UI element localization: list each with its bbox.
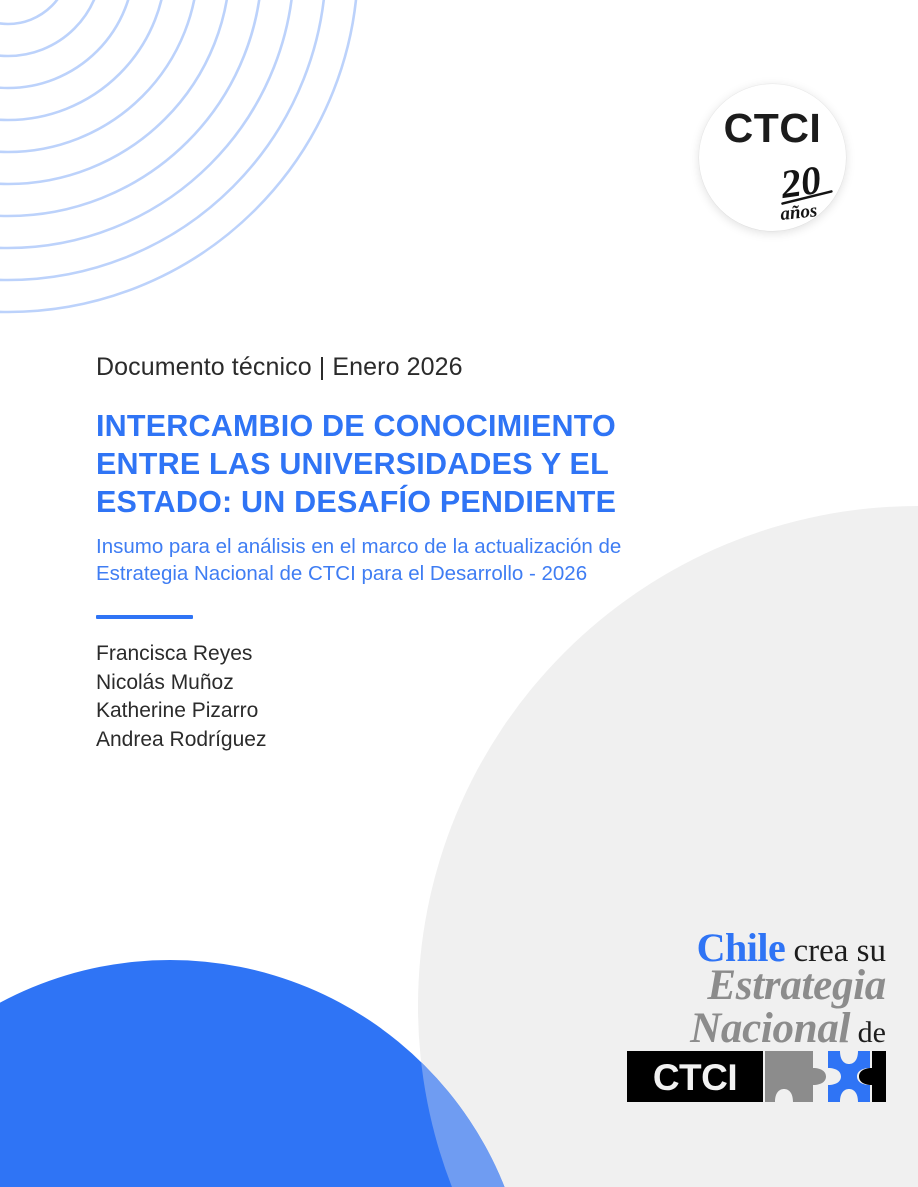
subtitle-line-1: Insumo para el análisis en el marco de l… (96, 533, 836, 560)
badge-ctci-wordmark: CTCI (699, 108, 846, 149)
logo-de-word: de (850, 1016, 886, 1049)
document-kicker: Documento técnico | Enero 2026 (96, 352, 836, 383)
author-divider-rule (96, 615, 193, 619)
page-subtitle: Insumo para el análisis en el marco de l… (96, 533, 836, 587)
cover-text-block: Documento técnico | Enero 2026 INTERCAMB… (96, 352, 836, 754)
logo-ctci-puzzle-bar: CTCI (627, 1051, 886, 1102)
ctci-anniversary-badge: CTCI 20 años (699, 84, 846, 231)
circle-overlap-tint (0, 960, 530, 1187)
logo-nacional-word: Nacional (690, 1005, 850, 1052)
estrategia-nacional-ctci-logo: Chile crea su Estrategia Nacional de CTC… (606, 928, 886, 1113)
title-line-1: INTERCAMBIO DE CONOCIMIENTO (96, 407, 836, 445)
subtitle-line-2: Estrategia Nacional de CTCI para el Desa… (96, 560, 836, 587)
author-item: Nicolás Muñoz (96, 669, 836, 698)
document-cover-page: CTCI 20 años Documento técnico | Enero 2… (0, 0, 918, 1187)
page-title: INTERCAMBIO DE CONOCIMIENTO ENTRE LAS UN… (96, 407, 836, 521)
logo-line-3: Nacional de (606, 1007, 886, 1050)
blue-decor-circle (0, 960, 530, 1187)
concentric-arcs-decoration (0, 0, 358, 312)
title-line-3: ESTADO: UN DESAFÍO PENDIENTE (96, 483, 836, 521)
title-line-2: ENTRE LAS UNIVERSIDADES Y EL (96, 445, 836, 483)
author-item: Francisca Reyes (96, 640, 836, 669)
puzzle-piece-gray (765, 1051, 826, 1102)
badge-20-anos-script: 20 años (777, 158, 867, 228)
author-item: Andrea Rodríguez (96, 726, 836, 755)
author-item: Katherine Pizarro (96, 697, 836, 726)
author-list: Francisca Reyes Nicolás Muñoz Katherine … (96, 640, 836, 754)
logo-estrategia-word: Estrategia (606, 964, 886, 1007)
svg-text:años: años (779, 200, 818, 225)
puzzle-ctci-wordmark: CTCI (653, 1057, 737, 1098)
